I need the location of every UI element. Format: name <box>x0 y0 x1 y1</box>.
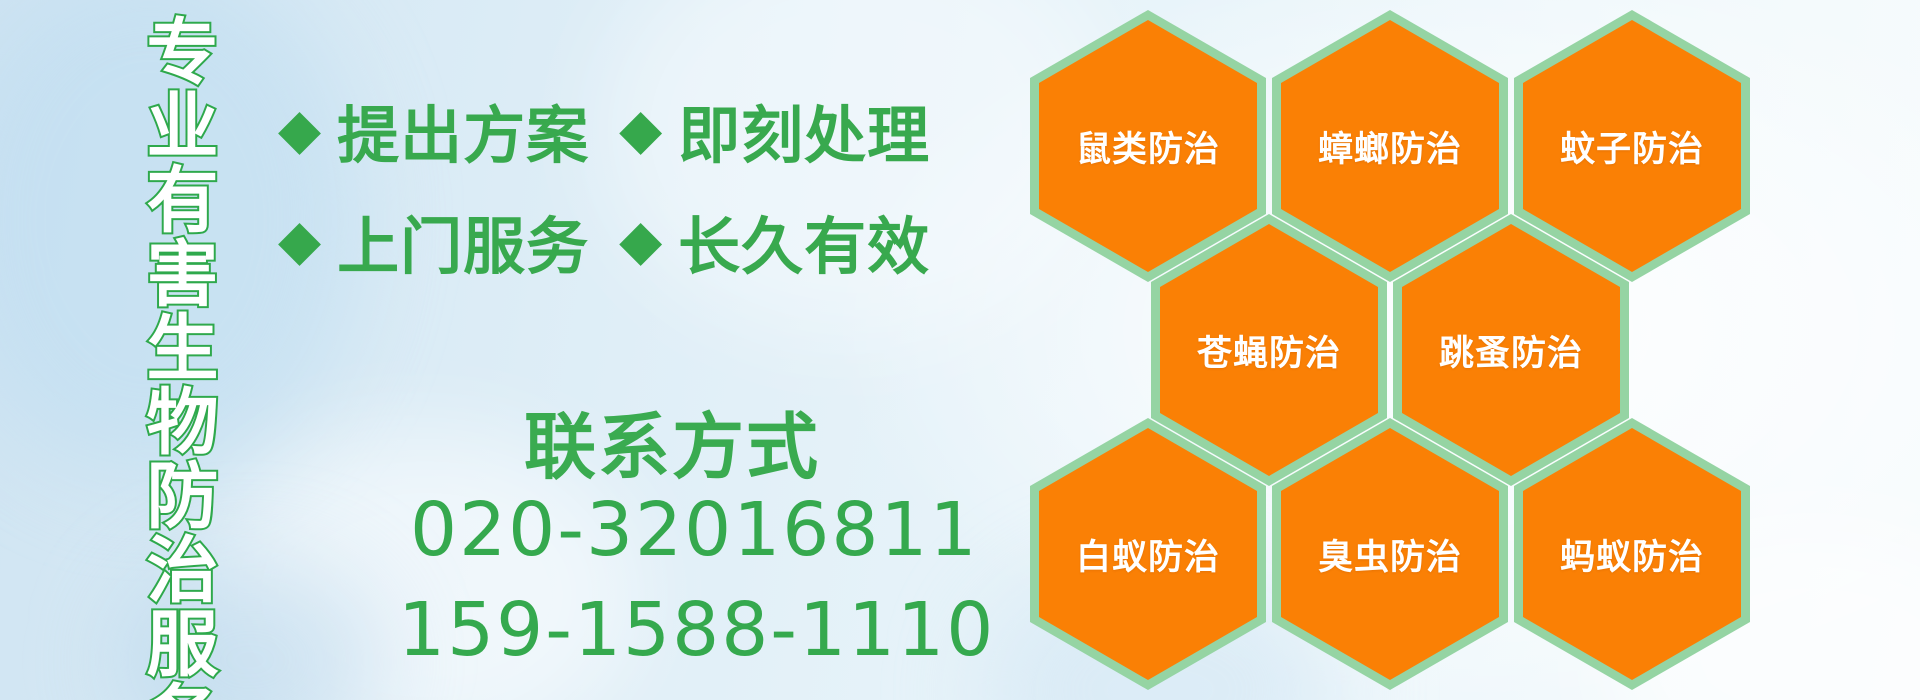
service-hex-label: 蚂蚁防治 <box>1560 529 1704 580</box>
service-hex-label: 跳蚤防治 <box>1439 325 1583 376</box>
diamond-bullet-icon: ◆ <box>278 102 321 158</box>
diamond-bullet-icon: ◆ <box>278 213 321 269</box>
service-hex-label: 蟑螂防治 <box>1318 121 1462 172</box>
pest-control-banner: 专业有害生物防治服务 ◆ 提出方案 ◆ 即刻处理 ◆ 上门服务 ◆ 长久有效 联… <box>0 0 1920 700</box>
service-hex-label: 苍蝇防治 <box>1197 325 1341 376</box>
feature-row-1: ◆ 提出方案 ◆ 即刻处理 <box>278 85 930 175</box>
feature-item-long-lasting: 长久有效 <box>678 196 930 286</box>
service-hex-label: 臭虫防治 <box>1318 529 1462 580</box>
feature-item-propose-plan: 提出方案 <box>337 85 589 175</box>
feature-row-2: ◆ 上门服务 ◆ 长久有效 <box>278 196 930 286</box>
vertical-headline: 专业有害生物防治服务 <box>108 14 212 674</box>
feature-item-immediate-handling: 即刻处理 <box>678 85 930 175</box>
contact-title: 联系方式 <box>524 388 820 493</box>
phone-mobile[interactable]: 159-1588-1110 <box>398 587 995 673</box>
phone-landline[interactable]: 020-32016811 <box>410 487 979 573</box>
diamond-bullet-icon: ◆ <box>619 102 662 158</box>
service-honeycomb: 鼠类防治 蟑螂防治 蚊子防治 苍蝇防治 跳蚤防治 白蚁防治 臭虫防治 蚂蚁防治 <box>1040 0 1920 700</box>
service-hex-label: 鼠类防治 <box>1076 121 1220 172</box>
service-hex-label: 白蚁防治 <box>1076 529 1220 580</box>
feature-item-onsite-service: 上门服务 <box>337 196 589 286</box>
diamond-bullet-icon: ◆ <box>619 213 662 269</box>
service-hex-label: 蚊子防治 <box>1560 121 1704 172</box>
